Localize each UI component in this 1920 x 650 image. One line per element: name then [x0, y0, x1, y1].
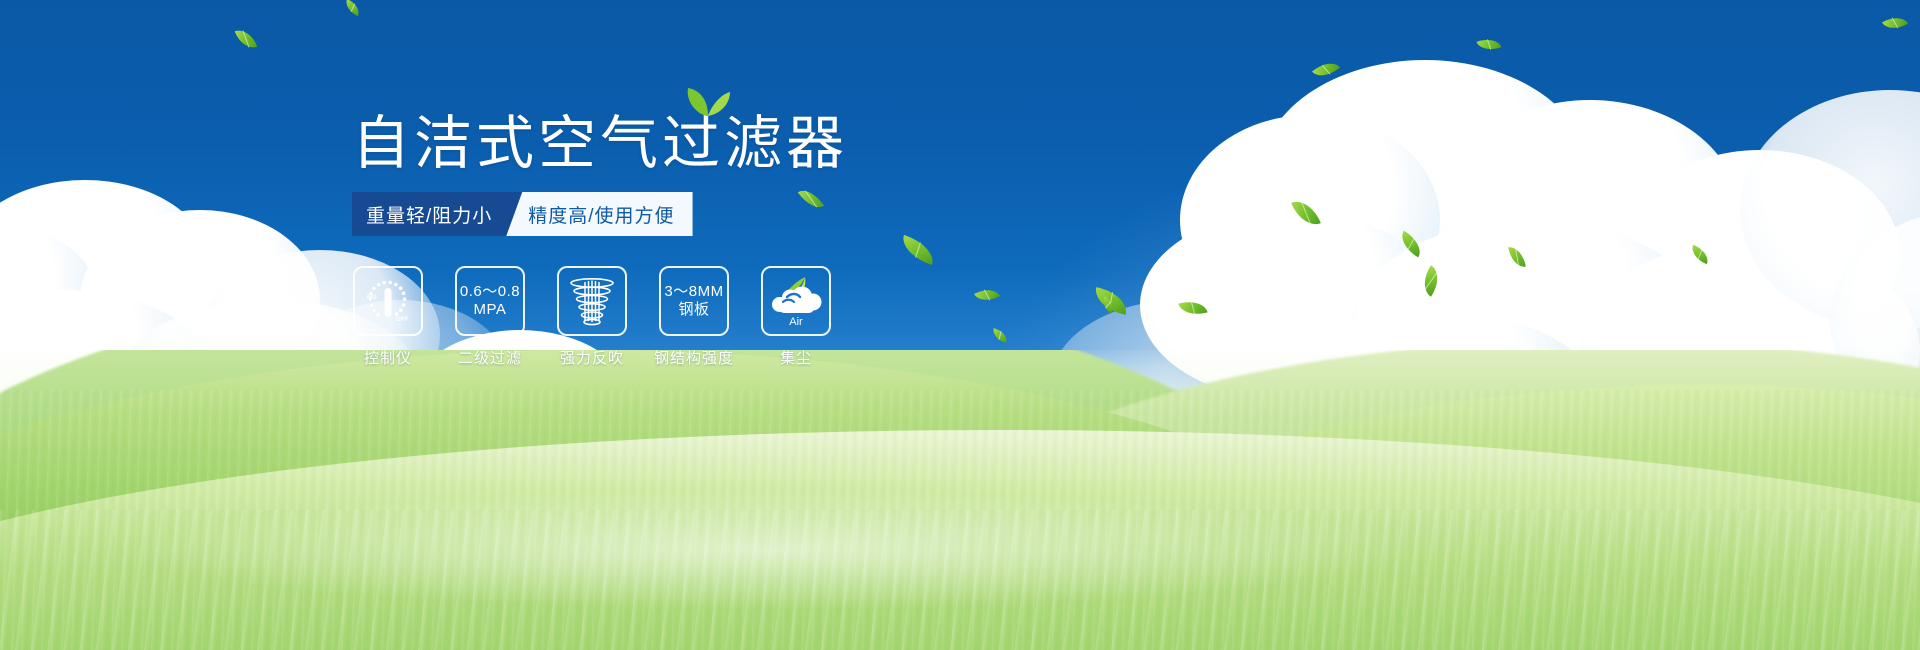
steel-plate-text-icon: 3～8MM — [664, 283, 723, 301]
badge-group: 重量轻/阻力小 精度高/使用方便 — [352, 192, 693, 236]
feature-item-steel-structure-strength[interactable]: 3～8MM 钢板 钢结构强度 — [658, 266, 730, 368]
pressure-unit-text: MPA — [474, 301, 507, 319]
feature-item-strong-backblow[interactable]: 强力反吹 — [556, 266, 628, 368]
feature-item-two-stage-filtration[interactable]: 0.6～0.8 MPA 二级过滤 — [454, 266, 526, 368]
feature-label: 二级过滤 — [458, 347, 522, 368]
banner-content: 自洁式空气过滤器 重量轻/阻力小 精度高/使用方便 — [0, 0, 1920, 650]
feature-icon-box: NO OFF — [353, 266, 423, 336]
feature-label: 集尘 — [780, 347, 812, 368]
feature-icon-box: Air — [761, 266, 831, 336]
page-title: 自洁式空气过滤器 — [352, 112, 848, 176]
feature-label: 控制仪 — [364, 347, 412, 368]
title-leaf-icon — [684, 86, 730, 116]
filter-cartridge-icon — [565, 274, 619, 328]
svg-text:OFF: OFF — [396, 317, 408, 323]
feature-list: NO OFF 控制仪 0.6～0.8 MPA 二级过滤 — [352, 266, 832, 368]
steel-plate-material-text: 钢板 — [678, 301, 709, 319]
svg-text:NO: NO — [367, 294, 377, 301]
badge-high-precision-easy-use[interactable]: 精度高/使用方便 — [506, 192, 692, 236]
feature-icon-box: 0.6～0.8 MPA — [455, 266, 525, 336]
feature-item-control-instrument[interactable]: NO OFF 控制仪 — [352, 266, 424, 368]
feature-label: 强力反吹 — [560, 347, 624, 368]
feature-icon-box — [557, 266, 627, 336]
air-cloud-icon: Air — [767, 275, 825, 327]
product-banner: 自洁式空气过滤器 重量轻/阻力小 精度高/使用方便 — [0, 0, 1920, 650]
pressure-text-icon: 0.6～0.8 — [460, 283, 520, 301]
air-label: Air — [789, 316, 803, 327]
control-dial-icon: NO OFF — [360, 273, 416, 329]
badge-lightweight-low-resistance[interactable]: 重量轻/阻力小 — [352, 192, 522, 236]
feature-item-dust-collection[interactable]: Air 集尘 — [760, 266, 832, 368]
feature-label: 钢结构强度 — [654, 347, 734, 368]
feature-icon-box: 3～8MM 钢板 — [659, 266, 729, 336]
